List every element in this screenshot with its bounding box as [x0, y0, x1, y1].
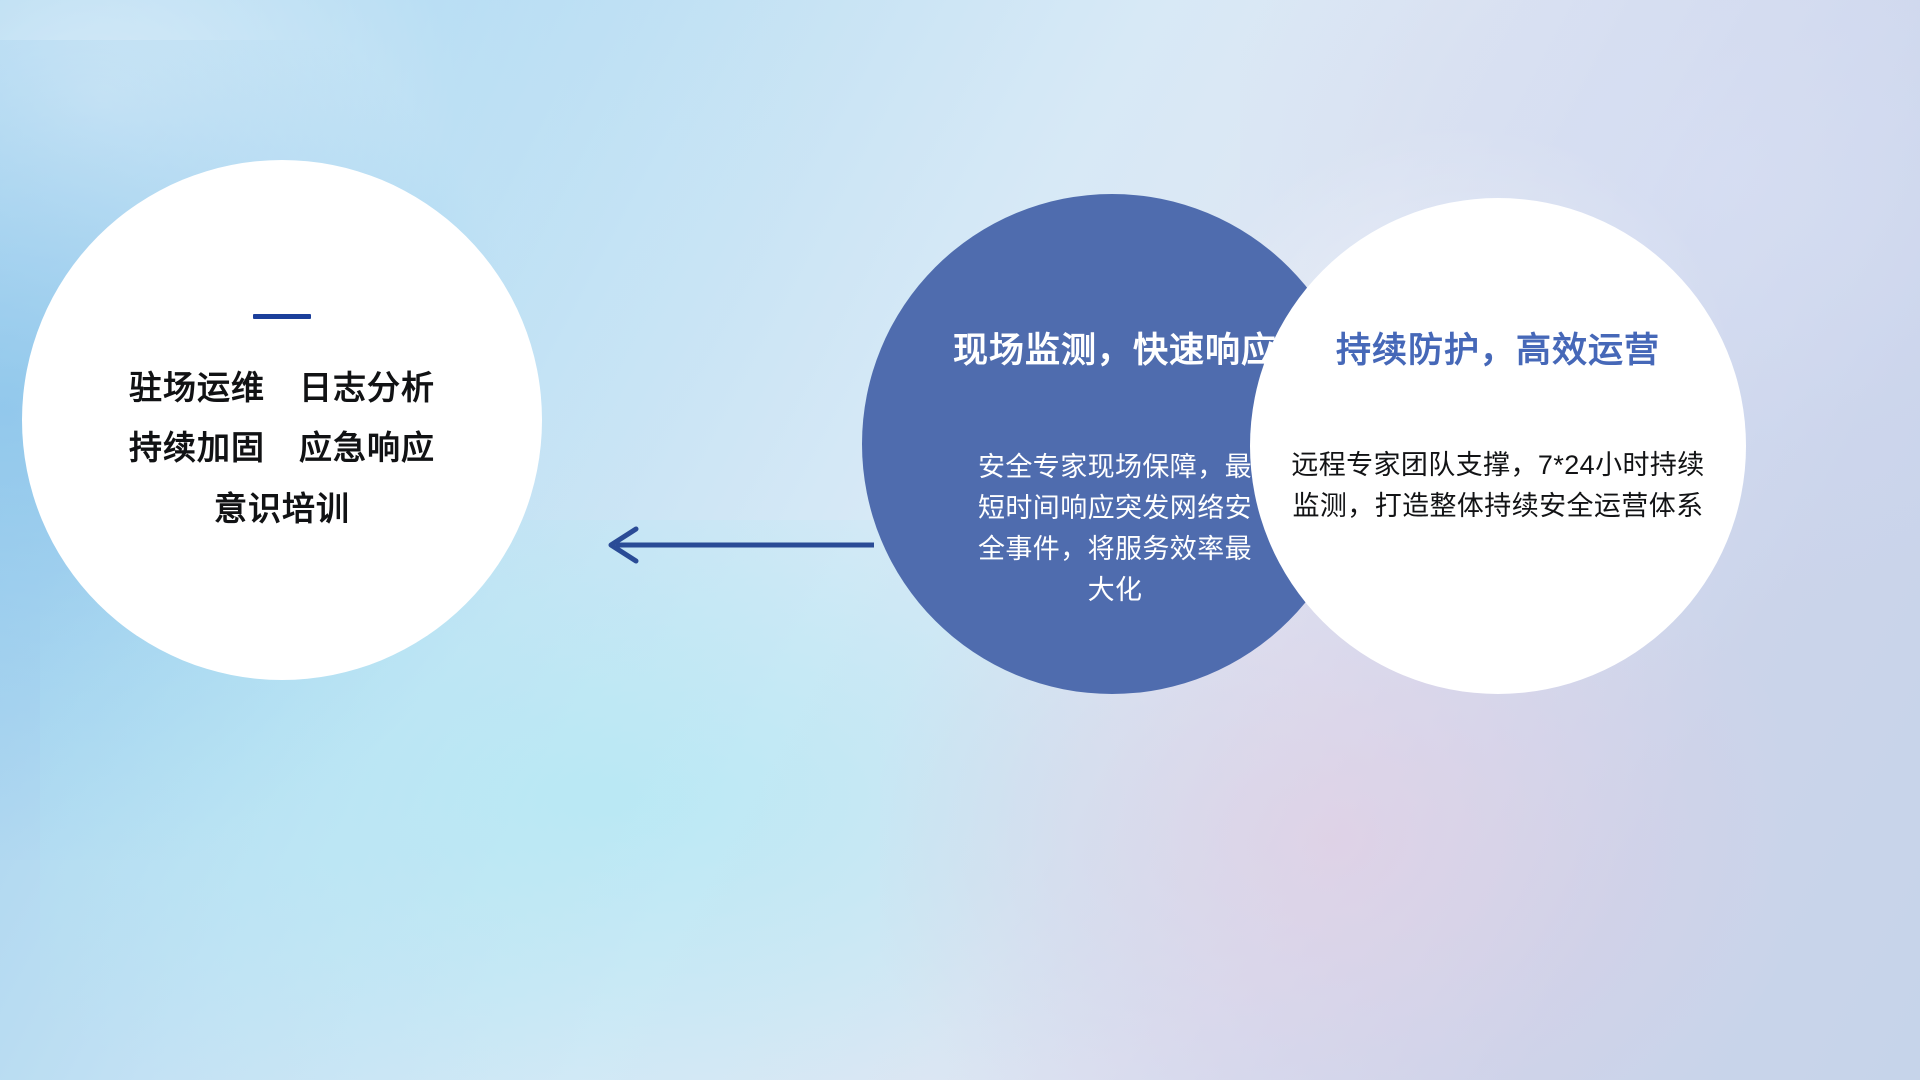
middle-circle-body: 安全专家现场保障，最短时间响应突发网络安全事件，将服务效率最大化 — [965, 447, 1265, 611]
right-circle-content: 持续防护，高效运营 远程专家团队支撑，7*24小时持续监测，打造整体持续安全运营… — [1250, 198, 1746, 694]
service-item-4: 应急响应 — [299, 431, 435, 466]
left-circle-content: 驻场运维 日志分析 持续加固 应急响应 意识培训 — [22, 160, 542, 680]
slide-canvas: 驻场运维 日志分析 持续加固 应急响应 意识培训 现场监测，快速响应 安全专家现… — [0, 0, 1920, 1080]
service-item-5: 意识培训 — [214, 492, 350, 527]
right-circle-body: 远程专家团队支撑，7*24小时持续监测，打造整体持续安全运营体系 — [1288, 445, 1708, 527]
service-item-2: 日志分析 — [299, 371, 435, 406]
service-item-1: 驻场运维 — [129, 371, 265, 406]
left-circle-service-list: 驻场运维 日志分析 持续加固 应急响应 意识培训 — [129, 371, 435, 527]
service-row-3: 意识培训 — [214, 492, 350, 527]
right-circle-title: 持续防护，高效运营 — [1336, 322, 1660, 373]
service-item-3: 持续加固 — [129, 431, 265, 466]
service-row-2: 持续加固 应急响应 — [129, 431, 435, 466]
middle-circle-title: 现场监测，快速响应 — [953, 322, 1277, 373]
service-row-1: 驻场运维 日志分析 — [129, 371, 435, 406]
left-circle-divider — [253, 314, 311, 319]
left-pointing-arrow-icon — [596, 522, 876, 568]
